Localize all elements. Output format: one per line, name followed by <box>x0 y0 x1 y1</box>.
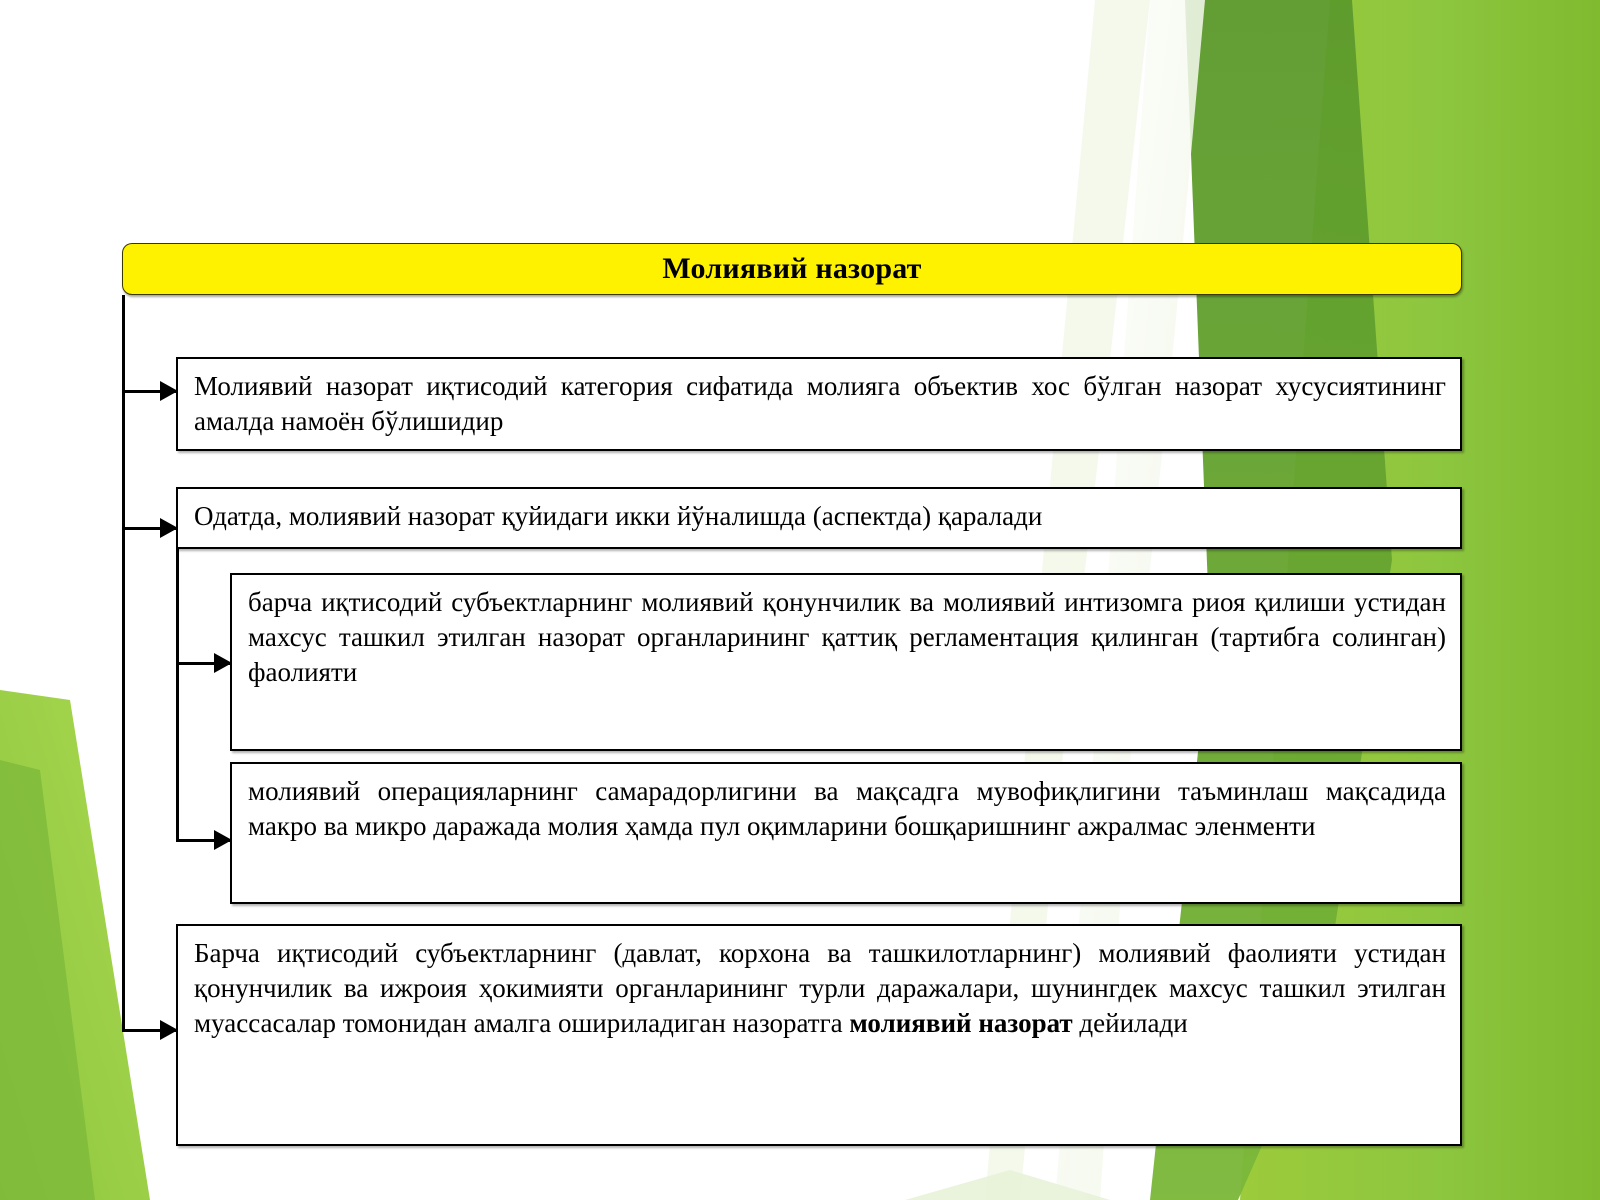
summary-emphasis: молиявий назорат <box>849 1008 1072 1038</box>
definition-text: Молиявий назорат иқтисодий категория сиф… <box>194 369 1446 439</box>
aspects-intro-text: Одатда, молиявий назорат қуйидаги икки й… <box>194 499 1446 534</box>
aspect-2-text: молиявий операцияларнинг самарадорлигини… <box>248 774 1446 844</box>
connector-trunk-aspects <box>176 549 179 842</box>
slide-canvas: Молиявий назорат Молиявий назорат иқтисо… <box>0 0 1600 1200</box>
connector-trunk-main <box>122 295 125 1032</box>
page-title: Молиявий назорат <box>662 252 921 286</box>
aspects-intro-box: Одатда, молиявий назорат қуйидаги икки й… <box>176 487 1462 549</box>
summary-paragraph: Барча иқтисодий субъектларнинг (давлат, … <box>194 936 1446 1041</box>
aspect-1-box: барча иқтисодий субъектларнинг молиявий … <box>230 573 1462 751</box>
summary-text-part-1: Барча иқтисодий субъектларнинг (давлат, … <box>194 938 1446 1038</box>
summary-box: Барча иқтисодий субъектларнинг (давлат, … <box>176 924 1462 1146</box>
aspect-1-text: барча иқтисодий субъектларнинг молиявий … <box>248 585 1446 690</box>
slide-title-bar: Молиявий назорат <box>122 243 1462 295</box>
aspect-2-box: молиявий операцияларнинг самарадорлигини… <box>230 762 1462 904</box>
summary-text-part-2: дейилади <box>1073 1008 1188 1038</box>
definition-box: Молиявий назорат иқтисодий категория сиф… <box>176 357 1462 451</box>
